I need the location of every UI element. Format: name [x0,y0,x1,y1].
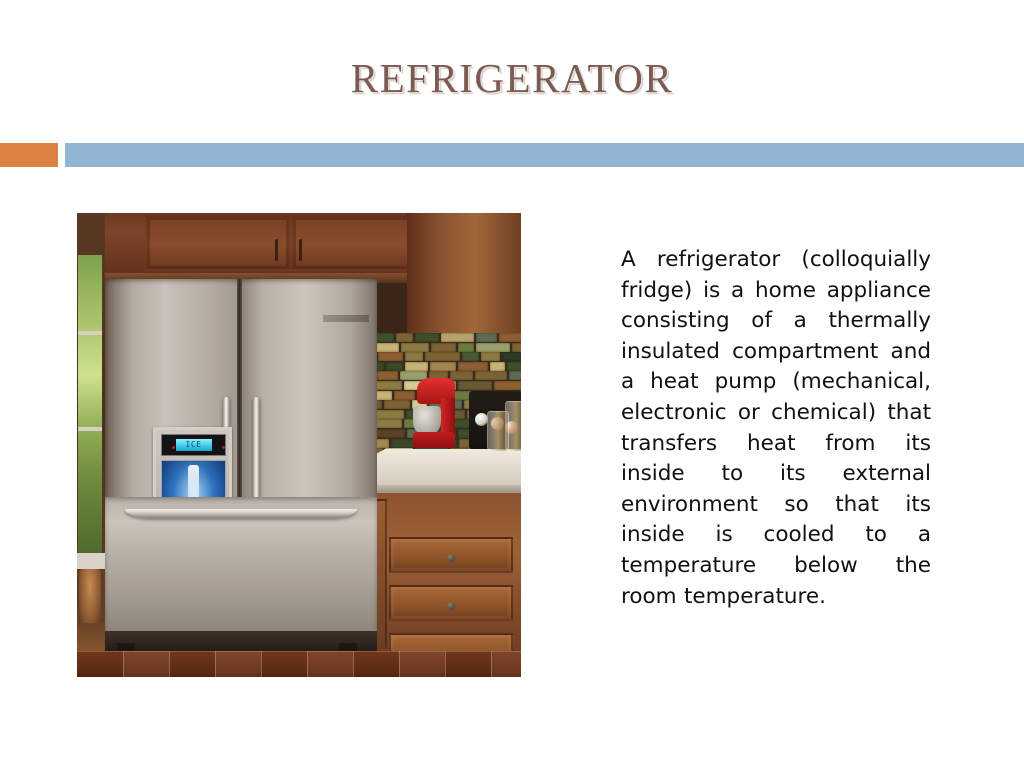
backsplash-tile [512,343,521,352]
floor-tile [445,651,492,677]
cabinet-handle [275,239,278,261]
floor-tile [491,651,521,677]
cabinet-drawer [389,537,513,573]
kitchen-scene: ICE [77,213,521,677]
floor-tile [307,651,354,677]
backsplash-tile [475,371,507,380]
cabinet-handle [299,239,302,261]
floor-tile [123,651,170,677]
cabinet-drawer [389,585,513,621]
divider-accent-block [0,143,58,167]
backsplash-tile [490,362,505,371]
backsplash-tile [431,343,456,352]
backsplash-tile [499,333,521,342]
backsplash-tile [377,391,392,400]
backsplash-tile [377,381,402,390]
floor-tile [169,651,216,677]
backsplash-tile [405,352,423,361]
body-paragraph: A refrigerator (colloquially fridge) is … [621,245,931,612]
page-title: REFRIGERATOR [0,54,1024,102]
tile-floor [77,651,521,677]
floor-tile [399,651,446,677]
backsplash-tile [507,362,521,371]
window-sill [77,553,105,569]
refrigerator-photo: ICE [77,213,521,677]
cabinet-door [145,215,291,271]
freezer-drawer [105,497,377,633]
drawer-knob [447,602,455,610]
backsplash-tile [377,333,394,342]
backsplash-tile [458,362,488,371]
freezer-drawer-handle [125,509,357,518]
backsplash-tile [476,333,497,342]
mixer-base [413,432,455,448]
backsplash-tile [377,362,384,371]
backsplash-tile [377,419,402,428]
floor-tile [215,651,262,677]
backsplash-tile [476,343,510,352]
backsplash-tile [441,333,474,342]
backsplash-tile [377,400,382,409]
dispenser-display: ICE [176,439,212,451]
drawer-knob [447,554,455,562]
backsplash-tile [458,343,474,352]
counter-jar [505,401,521,451]
floor-tile [261,651,308,677]
window-plant [79,569,101,627]
floor-tile [353,651,400,677]
backsplash-tile [458,381,492,390]
backsplash-tile [502,352,521,361]
refrigerator-brand-badge [323,315,369,322]
backsplash-tile [377,343,399,352]
backsplash-tile [377,371,398,380]
backsplash-tile [377,429,405,438]
stand-mixer [411,378,457,448]
window-mullion [78,331,102,335]
divider-bar [0,143,1024,167]
backsplash-tile [462,352,479,361]
backsplash-tile [377,410,404,419]
dispenser-indicator-light [222,446,225,449]
divider-main-bar [65,143,1024,167]
backsplash-tile [386,362,403,371]
backsplash-tile [425,352,460,361]
window-glass [78,255,102,555]
backsplash-tile [405,362,428,371]
backsplash-tile [377,439,389,448]
cabinet-side-panel [407,213,521,351]
backsplash-tile [401,343,429,352]
dispenser-control-panel: ICE [161,434,226,456]
slide-canvas: REFRIGERATOR [0,0,1024,768]
backsplash-tile [396,333,413,342]
backsplash-tile [494,381,521,390]
refrigerator-base [105,631,377,651]
dispenser-indicator-light [172,446,175,449]
floor-tile [77,651,124,677]
backsplash-tile [481,352,500,361]
backsplash-tile [430,362,456,371]
backsplash-tile [378,352,403,361]
backsplash-tile [384,400,410,409]
backsplash-tile [509,371,521,380]
window-mullion [78,427,102,431]
backsplash-tile [415,333,439,342]
